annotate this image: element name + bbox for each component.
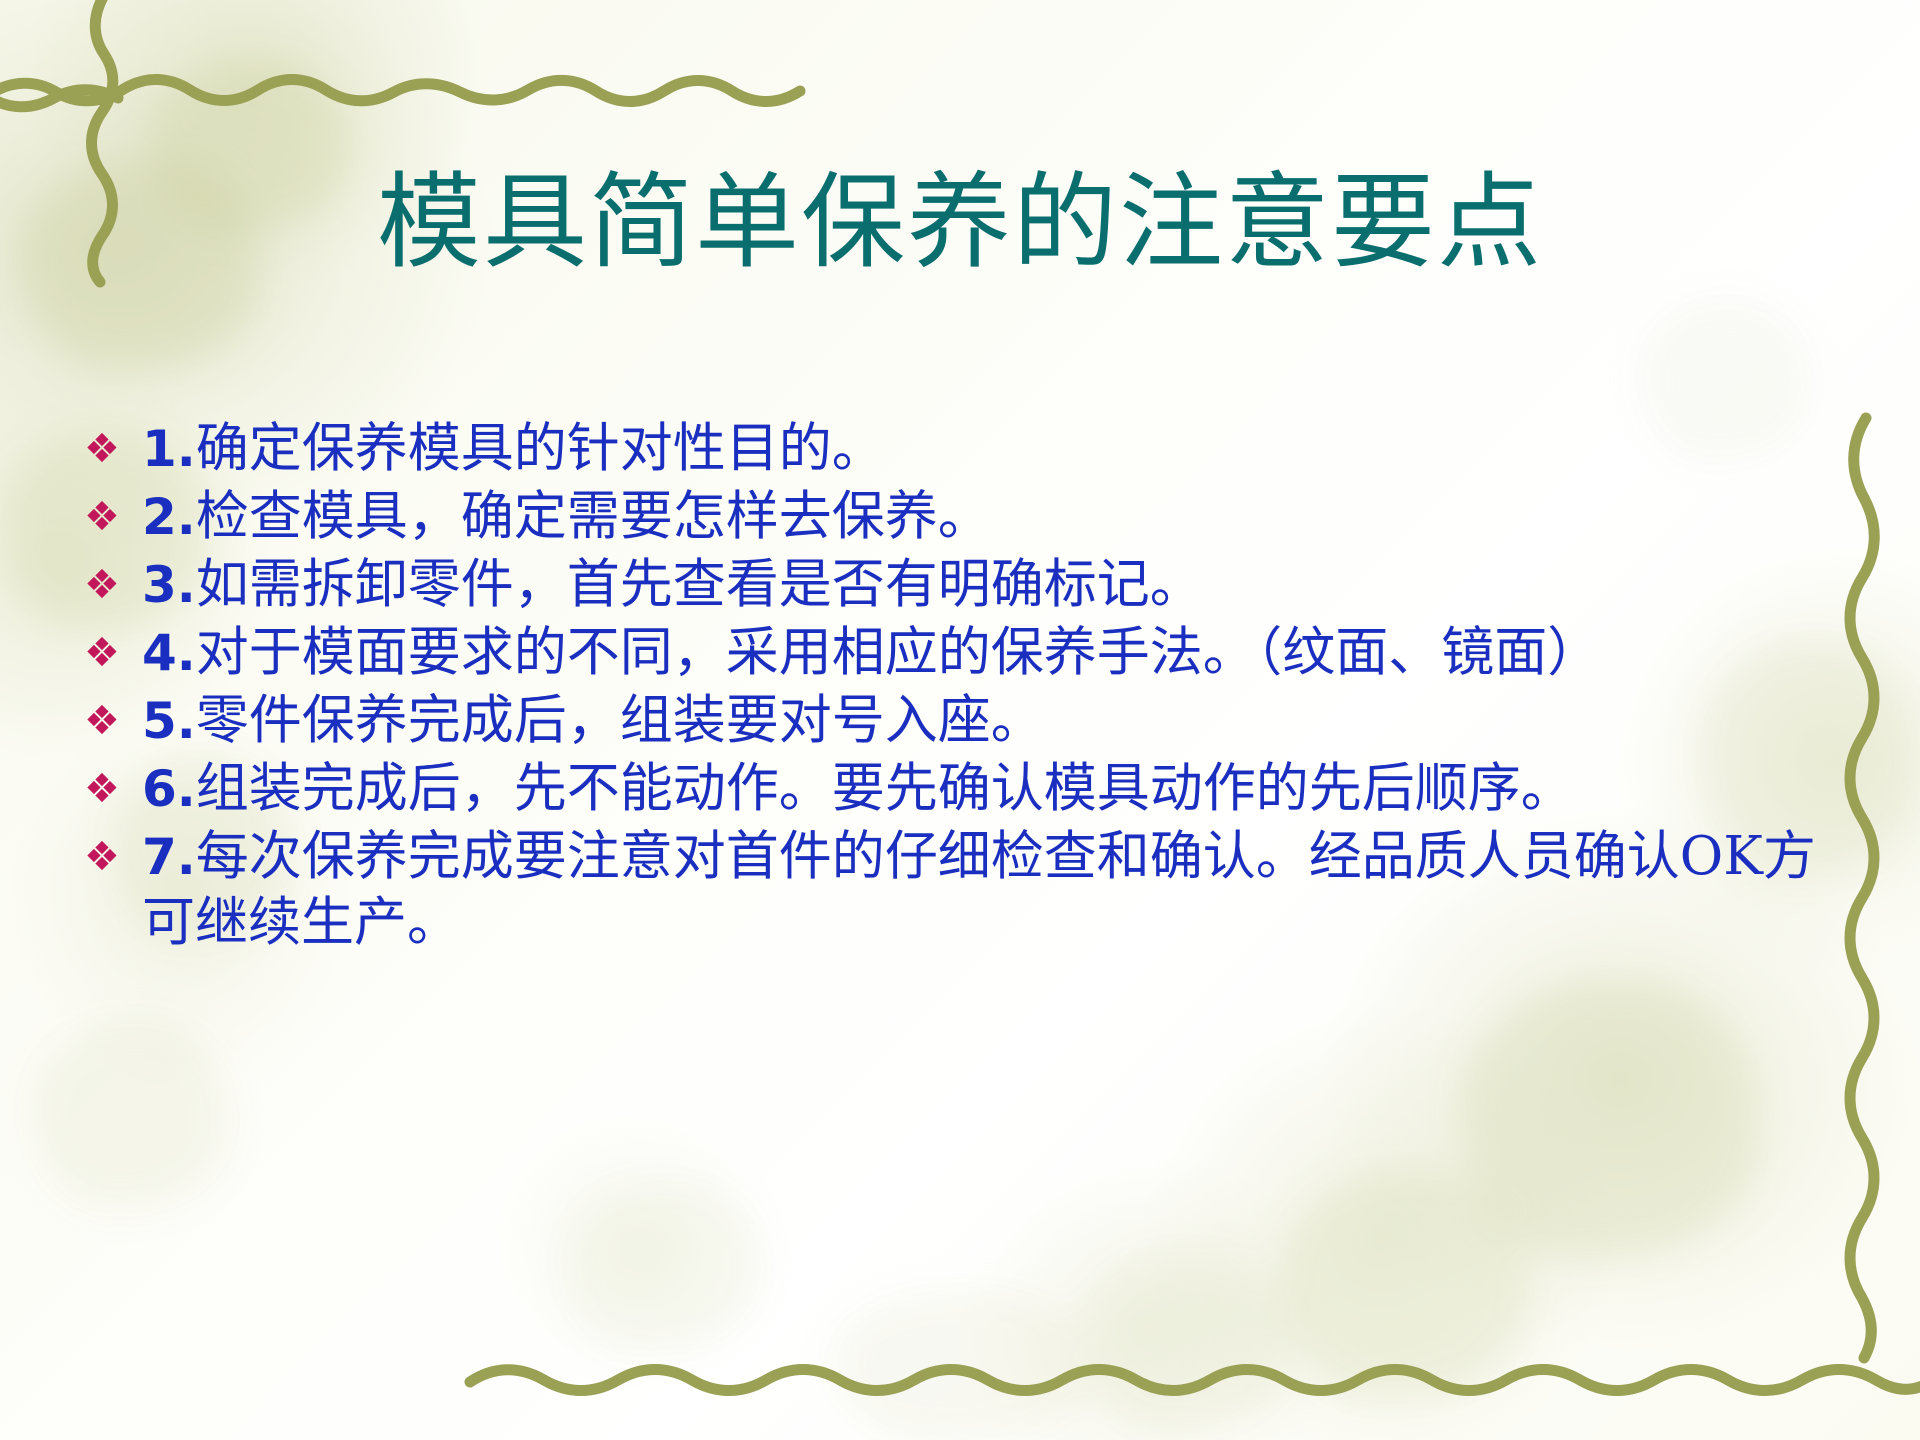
list-item-text: 7.每次保养完成要注意对首件的仔细检查和确认。经品质人员确认OK方可继续生产。: [142, 824, 1860, 956]
diamond-bullet-icon: ❖: [70, 416, 142, 482]
diamond-bullet-icon: ❖: [70, 824, 142, 890]
list-item: ❖ 2.检查模具，确定需要怎样去保养。: [70, 484, 1860, 550]
list-item-body: 每次保养完成要注意对首件的仔细检查和确认。经品质人员确认OK方可继续生产。: [142, 826, 1816, 953]
list-item: ❖ 5.零件保养完成后，组装要对号入座。: [70, 688, 1860, 754]
list-item-text: 2.检查模具，确定需要怎样去保养。: [142, 484, 1860, 550]
list-item-number: 1.: [142, 420, 196, 478]
list-item: ❖ 4.对于模面要求的不同，采用相应的保养手法。（纹面、镜面）: [70, 620, 1860, 686]
list-item-body: 检查模具，确定需要怎样去保养。: [196, 486, 991, 547]
list-item-number: 5.: [142, 692, 196, 750]
list-item: ❖ 1.确定保养模具的针对性目的。: [70, 416, 1860, 482]
presentation-slide: 模具简单保养的注意要点 ❖ 1.确定保养模具的针对性目的。 ❖ 2.检查模具，确…: [0, 0, 1920, 1440]
list-item-body: 组装完成后，先不能动作。要先确认模具动作的先后顺序。: [196, 758, 1574, 819]
list-item-text: 1.确定保养模具的针对性目的。: [142, 416, 1860, 482]
list-item-number: 2.: [142, 488, 196, 546]
bullet-list: ❖ 1.确定保养模具的针对性目的。 ❖ 2.检查模具，确定需要怎样去保养。 ❖ …: [70, 416, 1860, 958]
diamond-bullet-icon: ❖: [70, 552, 142, 618]
list-item-number: 6.: [142, 760, 196, 818]
list-item-text: 3.如需拆卸零件，首先查看是否有明确标记。: [142, 552, 1860, 618]
diamond-bullet-icon: ❖: [70, 688, 142, 754]
list-item: ❖ 3.如需拆卸零件，首先查看是否有明确标记。: [70, 552, 1860, 618]
list-item: ❖ 7.每次保养完成要注意对首件的仔细检查和确认。经品质人员确认OK方可继续生产…: [70, 824, 1860, 956]
list-item-body: 对于模面要求的不同，采用相应的保养手法。（纹面、镜面）: [196, 622, 1601, 683]
list-item-number: 7.: [142, 828, 196, 886]
list-item-text: 4.对于模面要求的不同，采用相应的保养手法。（纹面、镜面）: [142, 620, 1860, 686]
list-item-text: 6.组装完成后，先不能动作。要先确认模具动作的先后顺序。: [142, 756, 1860, 822]
list-item-body: 确定保养模具的针对性目的。: [196, 418, 885, 479]
slide-title: 模具简单保养的注意要点: [0, 166, 1920, 278]
diamond-bullet-icon: ❖: [70, 620, 142, 686]
diamond-bullet-icon: ❖: [70, 756, 142, 822]
list-item-body: 如需拆卸零件，首先查看是否有明确标记。: [196, 554, 1203, 615]
list-item-text: 5.零件保养完成后，组装要对号入座。: [142, 688, 1860, 754]
list-item: ❖ 6.组装完成后，先不能动作。要先确认模具动作的先后顺序。: [70, 756, 1860, 822]
list-item-number: 3.: [142, 556, 196, 614]
list-item-body: 零件保养完成后，组装要对号入座。: [196, 690, 1044, 751]
list-item-number: 4.: [142, 624, 196, 682]
diamond-bullet-icon: ❖: [70, 484, 142, 550]
